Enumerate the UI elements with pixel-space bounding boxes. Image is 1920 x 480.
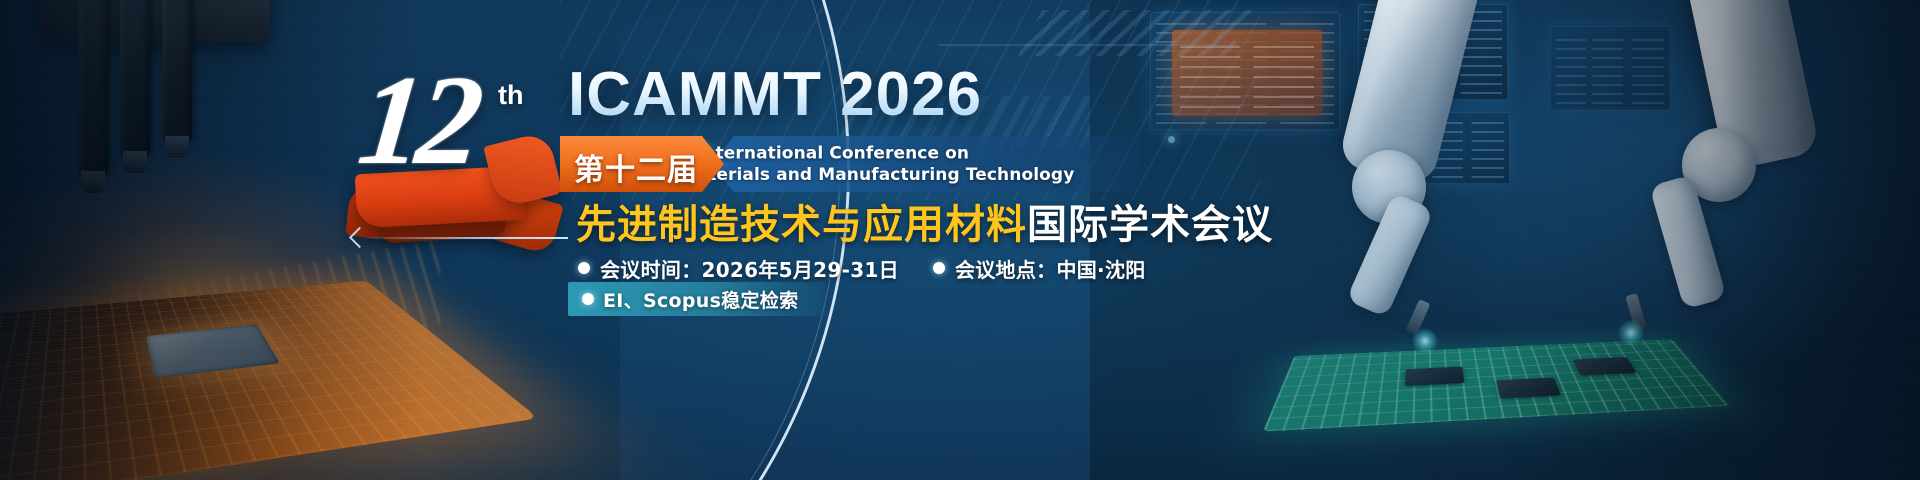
chinese-conference-title: 先进制造技术与应用材料国际学术会议	[576, 192, 1273, 250]
edition-badge-label: 第十二届	[574, 145, 698, 189]
subtitle-post: International Conference on	[691, 144, 969, 164]
anniversary-ordinal: th	[498, 80, 523, 111]
banner-content: 12 th ICAMMT 2026 2026 12th Internationa…	[0, 0, 1920, 480]
indexing-label: EI、Scopus稳定检索	[603, 286, 798, 313]
cn-title-part-3: 国际学术会议	[1027, 202, 1273, 248]
conference-date: 会议时间：2026年5月29-31日	[600, 254, 899, 283]
conference-location: 会议地点：中国·沈阳	[955, 254, 1146, 283]
page-title: ICAMMT 2026	[568, 64, 982, 126]
cn-title-part-1: 先进制造技术与	[576, 202, 863, 248]
conference-banner: 12 th ICAMMT 2026 2026 12th Internationa…	[0, 0, 1920, 480]
cn-title-part-2: 应用材料	[863, 202, 1027, 248]
divider-rule	[358, 237, 568, 239]
bullet-icon	[578, 262, 590, 274]
edition-subtitle-group: 2026 12th International Conference on Ap…	[560, 136, 1140, 196]
indexing-badge: EI、Scopus稳定检索	[568, 282, 826, 316]
info-item-location: 会议地点：中国·沈阳	[933, 254, 1146, 283]
anniversary-emblem: 12 th	[346, 52, 566, 247]
bullet-icon	[582, 293, 594, 305]
info-item-date: 会议时间：2026年5月29-31日	[578, 254, 899, 283]
bullet-icon	[933, 262, 945, 274]
anniversary-number: 12	[353, 56, 482, 184]
